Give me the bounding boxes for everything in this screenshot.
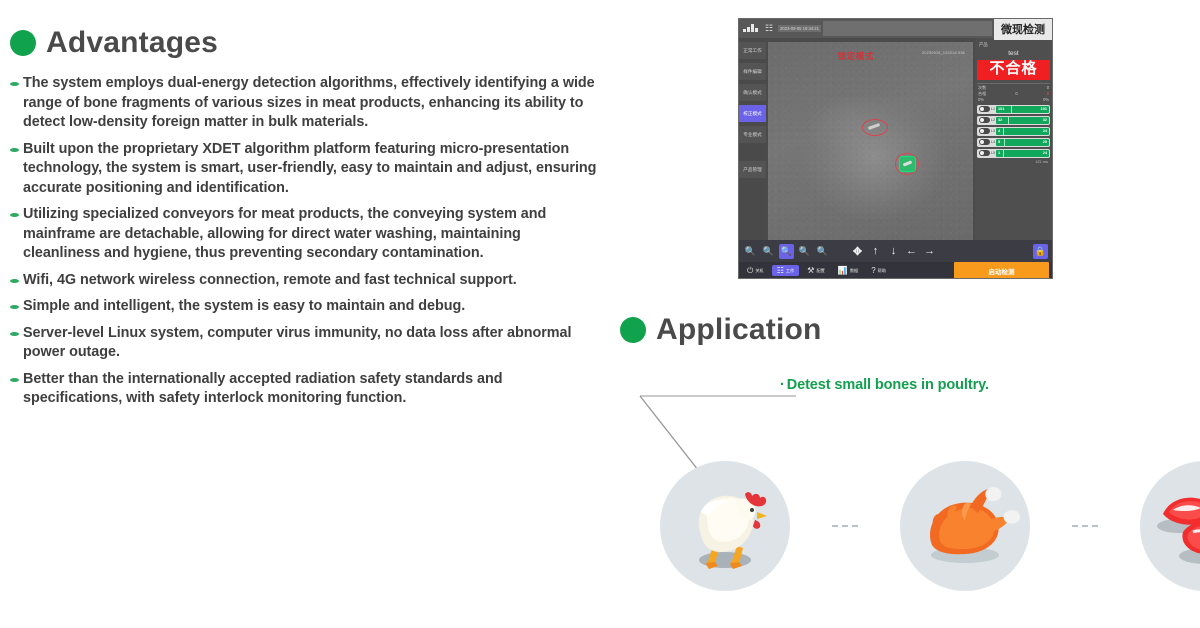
channel-toggle[interactable] xyxy=(979,150,990,156)
live-chicken-circle xyxy=(660,461,790,591)
lock-icon[interactable]: 🔒 xyxy=(1033,244,1048,259)
list-item: Built upon the proprietary XDET algorith… xyxy=(8,140,598,199)
advantages-heading-row: Advantages xyxy=(10,28,598,58)
channel-bar-track: 32 32 xyxy=(996,117,1049,124)
canvas-image-id: 20230915_133216.936 xyxy=(922,51,965,55)
ui-result-panel: 产品 test 不合格 次数 0 合格 0 0 0% 0% xyxy=(975,38,1052,240)
channel-value-right: 101 xyxy=(1041,107,1047,111)
channel-toggle[interactable] xyxy=(979,106,990,112)
xray-canvas[interactable]: 锁定模式 20230915_133216.936 xyxy=(768,42,973,240)
roast-chicken-circle xyxy=(900,461,1030,591)
channel-threshold-tick xyxy=(1004,139,1005,146)
bullet-dot-icon xyxy=(10,148,19,152)
channel-threshold-tick xyxy=(1008,117,1009,124)
advantages-heading: Advantages xyxy=(46,28,218,58)
raw-meat-circle xyxy=(1140,461,1200,591)
channel-bar-track: 4 24 xyxy=(996,128,1049,135)
machine-ui-screenshot: ☷ 2023-09-05 19:34:21 微现检测 正常工作 样件编辑 确认模… xyxy=(738,18,1053,279)
arrow-left-icon[interactable]: ← xyxy=(904,244,919,259)
ui-body: 正常工作 样件编辑 确认模式 校正模式 专业模式 产品管理 锁定模式 20230… xyxy=(739,38,1052,240)
channel-value-right: 24 xyxy=(1043,151,1047,155)
metric-pct-right: 0% xyxy=(1043,97,1049,102)
bullet-dot-icon xyxy=(10,305,19,309)
channel-toggle[interactable] xyxy=(979,139,990,145)
ui-sidebar: 正常工作 样件编辑 确认模式 校正模式 专业模式 产品管理 xyxy=(739,38,766,240)
bullet-text: Server-level Linux system, computer viru… xyxy=(23,324,598,363)
nav-help-button[interactable]: ? 帮助 xyxy=(866,265,891,276)
channel-row[interactable]: L1 101 101 xyxy=(977,105,1050,114)
zoom-fit-icon[interactable]: 🔍 xyxy=(779,244,794,259)
zoom-in-icon[interactable]: 🔍 xyxy=(797,244,812,259)
channel-threshold-tick xyxy=(1003,128,1004,135)
list-item: Simple and intelligent, the system is ea… xyxy=(8,297,598,317)
nav-label: 工作 xyxy=(786,268,794,274)
channel-value-right: 24 xyxy=(1043,129,1047,133)
list-item: Server-level Linux system, computer viru… xyxy=(8,324,598,363)
application-heading: Application xyxy=(656,315,822,345)
nav-power-button[interactable]: ⏻ 关机 xyxy=(742,265,769,277)
sidebar-item-expert[interactable]: 专业模式 xyxy=(739,126,766,143)
channel-threshold-tick xyxy=(1011,106,1012,113)
nav-report-button[interactable]: 📊 数据 xyxy=(833,265,863,276)
detection-highlight-box xyxy=(899,156,916,172)
signal-bars-icon xyxy=(743,23,759,35)
channel-bars: L1 101 101 L2 32 32 xyxy=(977,105,1050,158)
channel-row[interactable]: L4 5 20 xyxy=(977,138,1050,147)
sidebar-divider xyxy=(739,147,766,161)
zoom-reset-icon[interactable]: 🔍 xyxy=(815,244,830,259)
metric-block: 次数 0 合格 0 0 0% 0% xyxy=(977,83,1050,102)
ui-toolbar: 🔍 🔍 🔍 🔍 🔍 ✥ ↑ ↓ ← → 🔒 xyxy=(739,240,1052,262)
channel-value-left: 32 xyxy=(998,118,1002,122)
application-section: Application ·Detest small bones in poult… xyxy=(618,315,1193,361)
channel-label: L5 xyxy=(991,151,995,155)
channel-row[interactable]: L2 32 32 xyxy=(977,116,1050,125)
sidebar-item-calibrate[interactable]: 校正模式 xyxy=(739,105,766,122)
application-note: ·Detest small bones in poultry. xyxy=(780,377,989,393)
bullet-text: Better than the internationally accepted… xyxy=(23,370,598,409)
metric-left-value: 0 xyxy=(1015,91,1017,97)
live-chicken-illustration xyxy=(671,472,779,580)
sidebar-item-confirm[interactable]: 确认模式 xyxy=(739,84,766,101)
start-detection-button[interactable]: 启动检测 xyxy=(954,262,1049,280)
zoom-minus-icon[interactable]: 🔍 xyxy=(761,244,776,259)
detection-marker-2 xyxy=(895,153,919,175)
sidebar-item-sample-edit[interactable]: 样件编辑 xyxy=(739,63,766,80)
bullet-text: The system employs dual-energy detection… xyxy=(23,74,598,133)
channel-bar-track: 101 101 xyxy=(996,106,1049,113)
zoom-out-icon[interactable]: 🔍 xyxy=(743,244,758,259)
work-icon: ☷ xyxy=(777,266,784,275)
canvas-mode-label: 锁定模式 xyxy=(838,50,874,62)
channel-value-left: 1 xyxy=(998,151,1000,155)
sidebar-item-normal[interactable]: 正常工作 xyxy=(739,42,766,59)
status-badge: 不合格 xyxy=(977,60,1050,80)
product-value: test xyxy=(977,50,1050,57)
bullet-dot-icon xyxy=(10,213,19,217)
arrow-right-icon[interactable]: → xyxy=(922,244,937,259)
channel-value-left: 4 xyxy=(998,129,1000,133)
ui-topbar: ☷ 2023-09-05 19:34:21 微现检测 xyxy=(739,19,1052,38)
nav-label: 关机 xyxy=(755,268,763,274)
channel-bar-track: 5 20 xyxy=(996,139,1049,146)
nav-label: 配置 xyxy=(816,268,824,274)
ui-timestamp: 2023-09-05 19:34:21 xyxy=(778,25,821,32)
channel-toggle[interactable] xyxy=(979,117,990,123)
bullet-dot-icon xyxy=(10,279,19,283)
nav-label: 帮助 xyxy=(878,268,886,274)
channel-bar-track: 1 24 xyxy=(996,150,1049,157)
arrow-down-icon[interactable]: ↓ xyxy=(886,244,901,259)
bullet-text: Wifi, 4G network wireless connection, re… xyxy=(23,271,517,291)
channel-value-right: 20 xyxy=(1043,140,1047,144)
help-icon: ? xyxy=(871,266,875,275)
nav-config-button[interactable]: ⚒ 配置 xyxy=(802,265,830,276)
move-icon[interactable]: ✥ xyxy=(850,244,865,259)
channel-row[interactable]: L5 1 24 xyxy=(977,149,1050,158)
dash-connector-1 xyxy=(832,525,858,527)
channel-toggle[interactable] xyxy=(979,128,990,134)
application-heading-row: Application xyxy=(620,315,1193,345)
bullet-text: Simple and intelligent, the system is ea… xyxy=(23,297,465,317)
ui-topbar-spacer xyxy=(823,21,992,36)
advantages-bullet-list: The system employs dual-energy detection… xyxy=(8,74,598,409)
xray-noise-overlay xyxy=(768,42,973,240)
channel-threshold-tick xyxy=(1003,150,1004,157)
channel-label: L2 xyxy=(991,118,995,122)
channel-label: L4 xyxy=(991,140,995,144)
product-label: 产品 xyxy=(979,42,1050,48)
application-image-row xyxy=(660,461,1200,591)
ui-navbar: ⏻ 关机 ☷ 工作 ⚒ 配置 📊 数据 ? 帮助 启动检测 xyxy=(739,262,1052,279)
list-item: Utilizing specialized conveyors for meat… xyxy=(8,205,598,264)
green-dot-icon xyxy=(620,317,646,343)
channel-label: L3 xyxy=(991,129,995,133)
config-icon: ⚒ xyxy=(807,266,814,275)
list-item: Wifi, 4G network wireless connection, re… xyxy=(8,271,598,291)
bullet-text: Utilizing specialized conveyors for meat… xyxy=(23,205,598,264)
metric-row-pct: 0% 0% xyxy=(977,97,1050,102)
bullet-dot-icon xyxy=(10,378,19,382)
raw-meat-illustration xyxy=(1149,470,1200,582)
network-icon: ☷ xyxy=(765,24,773,33)
channel-value-left: 5 xyxy=(998,140,1000,144)
nav-label: 数据 xyxy=(850,268,858,274)
arrow-up-icon[interactable]: ↑ xyxy=(868,244,883,259)
channel-value-right: 32 xyxy=(1043,118,1047,122)
advantages-section: Advantages The system employs dual-energ… xyxy=(8,28,598,416)
list-item: Better than the internationally accepted… xyxy=(8,370,598,409)
green-dot-icon xyxy=(10,30,36,56)
sidebar-item-product-mgmt[interactable]: 产品管理 xyxy=(739,161,766,178)
elapsed-time: 421 ms xyxy=(977,160,1050,164)
bullet-dot-icon xyxy=(10,332,19,336)
channel-value-left: 101 xyxy=(998,107,1004,111)
roast-chicken-illustration xyxy=(910,471,1020,581)
channel-label: L1 xyxy=(991,107,995,111)
dash-connector-2 xyxy=(1072,525,1098,527)
ui-title: 微现检测 xyxy=(994,18,1052,40)
metric-pct-left: 0% xyxy=(978,97,984,102)
channel-row[interactable]: L3 4 24 xyxy=(977,127,1050,136)
power-icon: ⏻ xyxy=(747,266,753,276)
nav-work-button[interactable]: ☷ 工作 xyxy=(772,265,800,276)
bullet-text: Built upon the proprietary XDET algorith… xyxy=(23,140,598,199)
note-text: Detest small bones in poultry. xyxy=(787,377,989,393)
list-item: The system employs dual-energy detection… xyxy=(8,74,598,133)
report-icon: 📊 xyxy=(838,266,848,275)
bullet-dot-icon xyxy=(10,82,19,86)
